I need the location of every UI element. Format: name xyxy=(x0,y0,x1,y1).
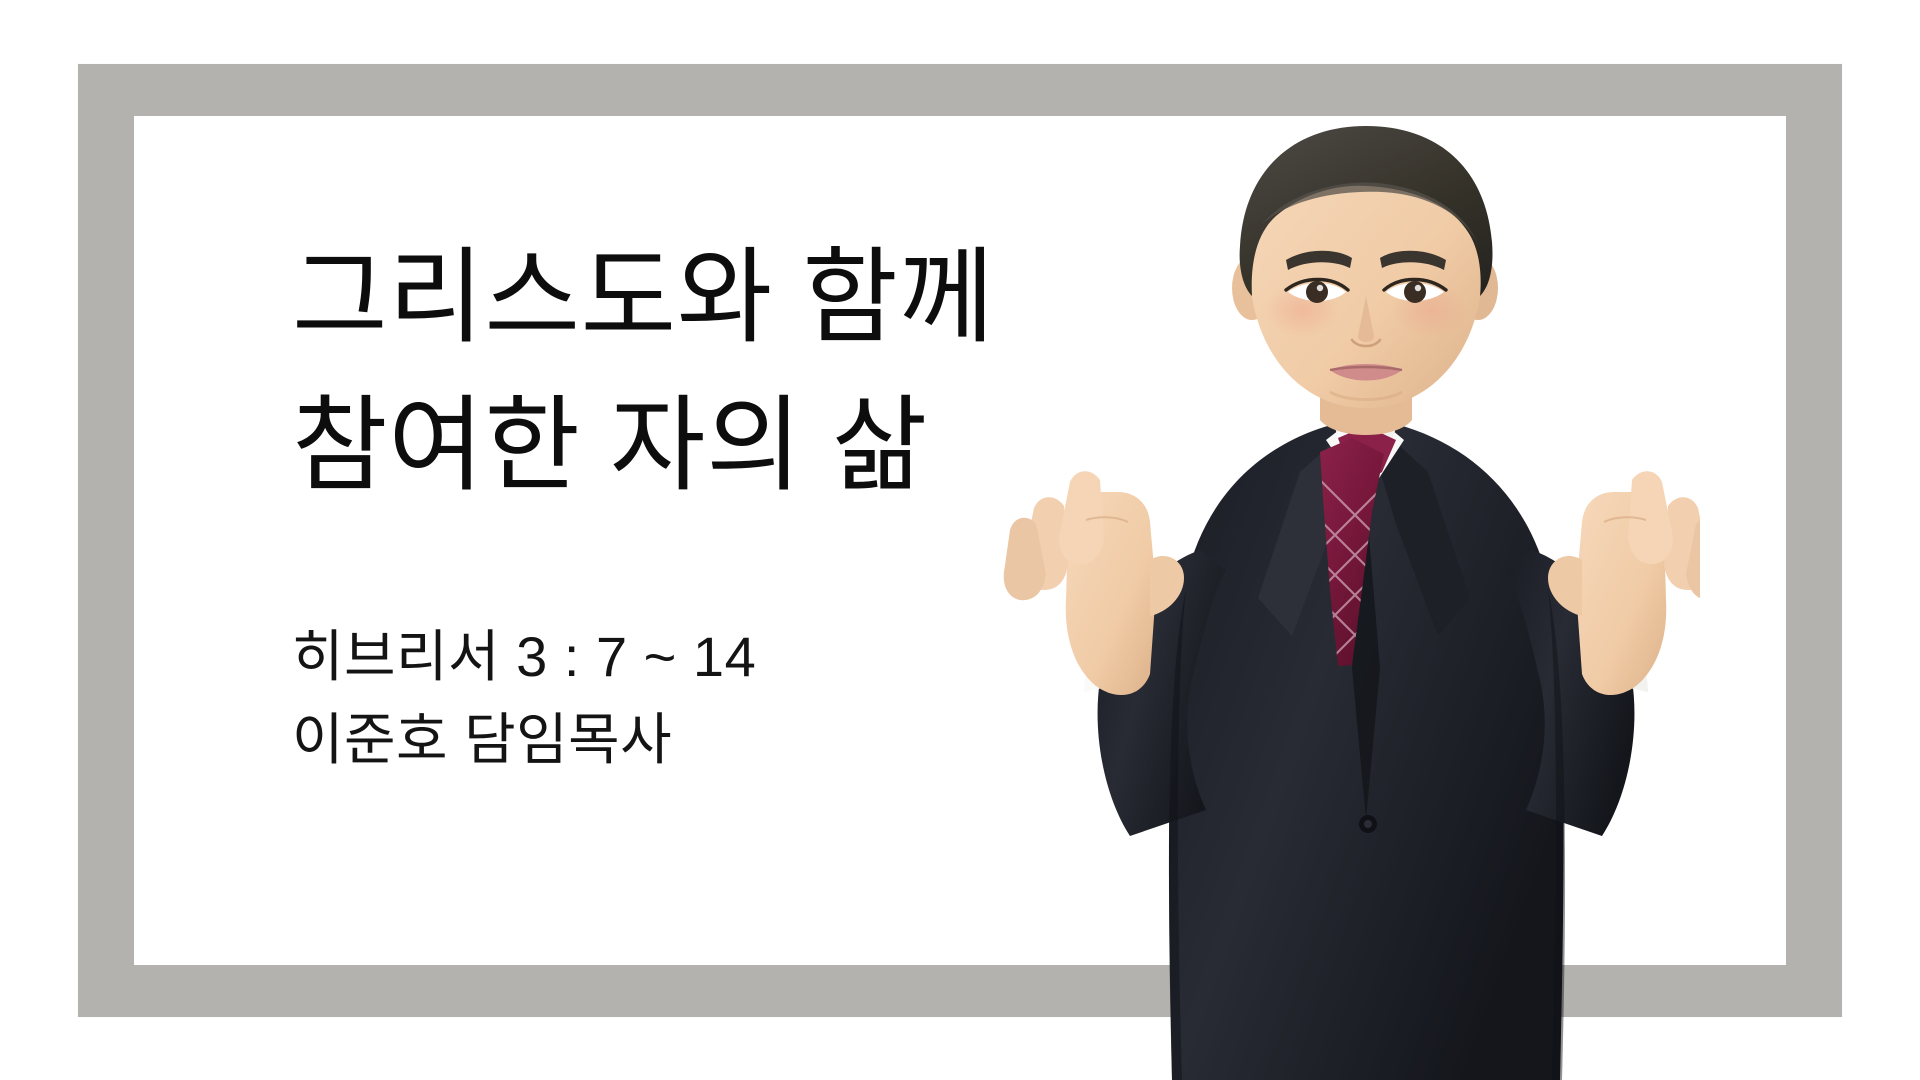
left-hand-gesture xyxy=(1004,471,1226,836)
sermon-slide: 그리스도와 함께 참여한 자의 삶 히브리서 3 : 7 ~ 14 이준호 담임… xyxy=(0,0,1920,1080)
head xyxy=(1232,126,1498,408)
pastor-portrait xyxy=(1000,120,1700,1080)
